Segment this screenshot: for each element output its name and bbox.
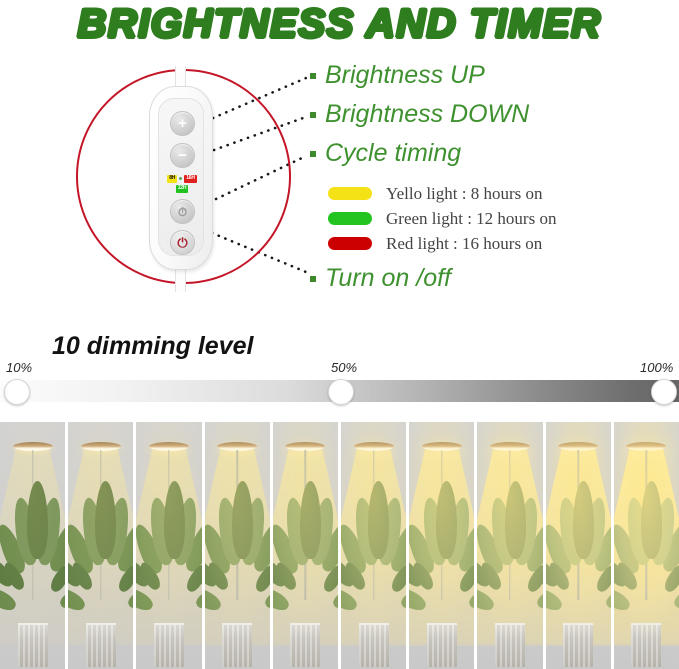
- yellow-pill-icon: [328, 187, 372, 200]
- plant: [616, 475, 676, 625]
- brightness-down-button[interactable]: −: [170, 143, 195, 168]
- timer-badge-row-top: 8H 16H: [165, 175, 199, 183]
- photo-panel: [614, 422, 679, 669]
- red-pill-icon: [328, 237, 372, 250]
- legend-row-green: Green light : 12 hours on: [328, 206, 679, 231]
- timer-badges: 8H 16H 12H: [165, 175, 199, 193]
- slider-knob-100[interactable]: [651, 379, 677, 405]
- legend-label: Green light : 12 hours on: [386, 209, 556, 229]
- plant: [548, 475, 608, 625]
- green-pill-icon: [328, 212, 372, 225]
- callout-section: + − 8H 16H 12H ⏱ ⏻: [0, 56, 679, 308]
- bullet-square-icon: [310, 73, 316, 79]
- clock-icon: ⏱: [171, 200, 194, 223]
- plant-pot: [154, 623, 184, 667]
- callout-label: Turn on /off: [325, 264, 451, 293]
- slider-knob-50[interactable]: [328, 379, 354, 405]
- bullet-square-icon: [310, 151, 316, 157]
- plant-leaf: [641, 481, 662, 559]
- badge-8h: 8H: [167, 175, 177, 183]
- photo-panel: [341, 422, 406, 669]
- plant-pot: [86, 623, 116, 667]
- callout-brightness-up: Brightness UP: [310, 56, 679, 95]
- remote-faceplate: + − 8H 16H 12H ⏱ ⏻: [158, 98, 204, 256]
- callout-label: Cycle timing: [325, 139, 461, 168]
- photo-panel: [409, 422, 474, 669]
- page-title: BRIGHTNESS AND TIMER: [0, 2, 679, 47]
- plant-leaf: [232, 481, 253, 559]
- plant-leaf: [573, 481, 594, 559]
- plant-pot: [563, 623, 593, 667]
- power-icon: ⏻: [171, 231, 194, 254]
- plant: [275, 475, 335, 625]
- title-band: BRIGHTNESS AND TIMER: [0, 0, 679, 56]
- bullet-square-icon: [310, 112, 316, 118]
- plant: [480, 475, 540, 625]
- plant-pot: [495, 623, 525, 667]
- plant: [3, 475, 63, 625]
- plant-pot: [222, 623, 252, 667]
- dimming-section: 10 dimming level 10% 50% 100%: [0, 330, 679, 415]
- remote-control-illustration: + − 8H 16H 12H ⏱ ⏻: [149, 82, 211, 272]
- bullet-square-icon: [310, 276, 316, 282]
- legend-label: Red light : 16 hours on: [386, 234, 542, 254]
- cord-top: [175, 66, 186, 88]
- dimming-heading: 10 dimming level: [52, 332, 253, 361]
- plant-leaf: [95, 481, 116, 559]
- dimming-mark-10: 10%: [6, 360, 32, 375]
- minus-icon: −: [171, 144, 194, 167]
- plant-leaf: [368, 481, 389, 559]
- plus-icon: +: [171, 112, 194, 135]
- plant-leaf: [436, 481, 457, 559]
- slider-knob-10[interactable]: [4, 379, 30, 405]
- timer-badge-row-bottom: 12H: [165, 185, 199, 193]
- photo-panel: [273, 422, 338, 669]
- photo-panel: [477, 422, 542, 669]
- plant: [412, 475, 472, 625]
- callout-turn-on-off: Turn on /off: [310, 259, 451, 298]
- plant: [139, 475, 199, 625]
- plant-pot: [427, 623, 457, 667]
- timer-color-legend: Yello light : 8 hours on Green light : 1…: [328, 181, 679, 256]
- plant-pot: [631, 623, 661, 667]
- callout-cycle-timing: Cycle timing: [310, 134, 679, 173]
- dimming-mark-100: 100%: [640, 360, 673, 375]
- badge-16h: 16H: [184, 175, 197, 183]
- callout-list: Brightness UP Brightness DOWN Cycle timi…: [310, 56, 679, 173]
- photo-panel: [546, 422, 611, 669]
- photo-panel: [68, 422, 133, 669]
- callout-brightness-down: Brightness DOWN: [310, 95, 679, 134]
- brightness-photo-strip: [0, 422, 679, 669]
- power-button[interactable]: ⏻: [170, 230, 195, 255]
- plant-pot: [359, 623, 389, 667]
- dimming-mark-50: 50%: [331, 360, 357, 375]
- plant: [207, 475, 267, 625]
- plant-leaf: [300, 481, 321, 559]
- plant-leaf: [505, 481, 526, 559]
- photo-panel: [0, 422, 65, 669]
- plant: [71, 475, 131, 625]
- legend-row-red: Red light : 16 hours on: [328, 231, 679, 256]
- plant-leaf: [164, 481, 185, 559]
- plant: [344, 475, 404, 625]
- plant-pot: [18, 623, 48, 667]
- callout-label: Brightness DOWN: [325, 100, 529, 129]
- brightness-up-button[interactable]: +: [170, 111, 195, 136]
- plant-leaf: [27, 481, 48, 559]
- photo-panel: [136, 422, 201, 669]
- badge-separator-dot: [179, 177, 182, 180]
- legend-row-yellow: Yello light : 8 hours on: [328, 181, 679, 206]
- photo-panel: [205, 422, 270, 669]
- plant-pot: [290, 623, 320, 667]
- legend-label: Yello light : 8 hours on: [386, 184, 543, 204]
- badge-12h: 12H: [176, 185, 189, 193]
- cycle-timing-button[interactable]: ⏱: [170, 199, 195, 224]
- callout-label: Brightness UP: [325, 61, 485, 90]
